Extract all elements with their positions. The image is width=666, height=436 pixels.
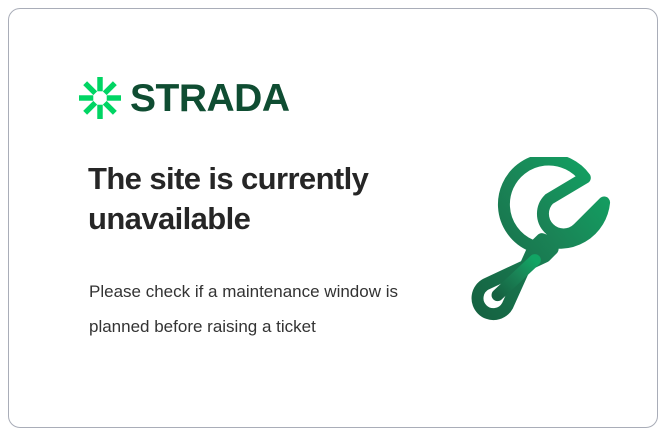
page-description: Please check if a maintenance window is … [89, 275, 399, 345]
wrench-icon [461, 157, 627, 323]
strada-asterisk-icon [79, 77, 121, 119]
error-page: STRADA The site is currently unavailable… [0, 0, 666, 436]
status-card: STRADA The site is currently unavailable… [8, 8, 658, 428]
page-title: The site is currently unavailable [88, 159, 418, 240]
brand-logo: STRADA [79, 75, 290, 121]
brand-wordmark: STRADA [130, 79, 290, 118]
